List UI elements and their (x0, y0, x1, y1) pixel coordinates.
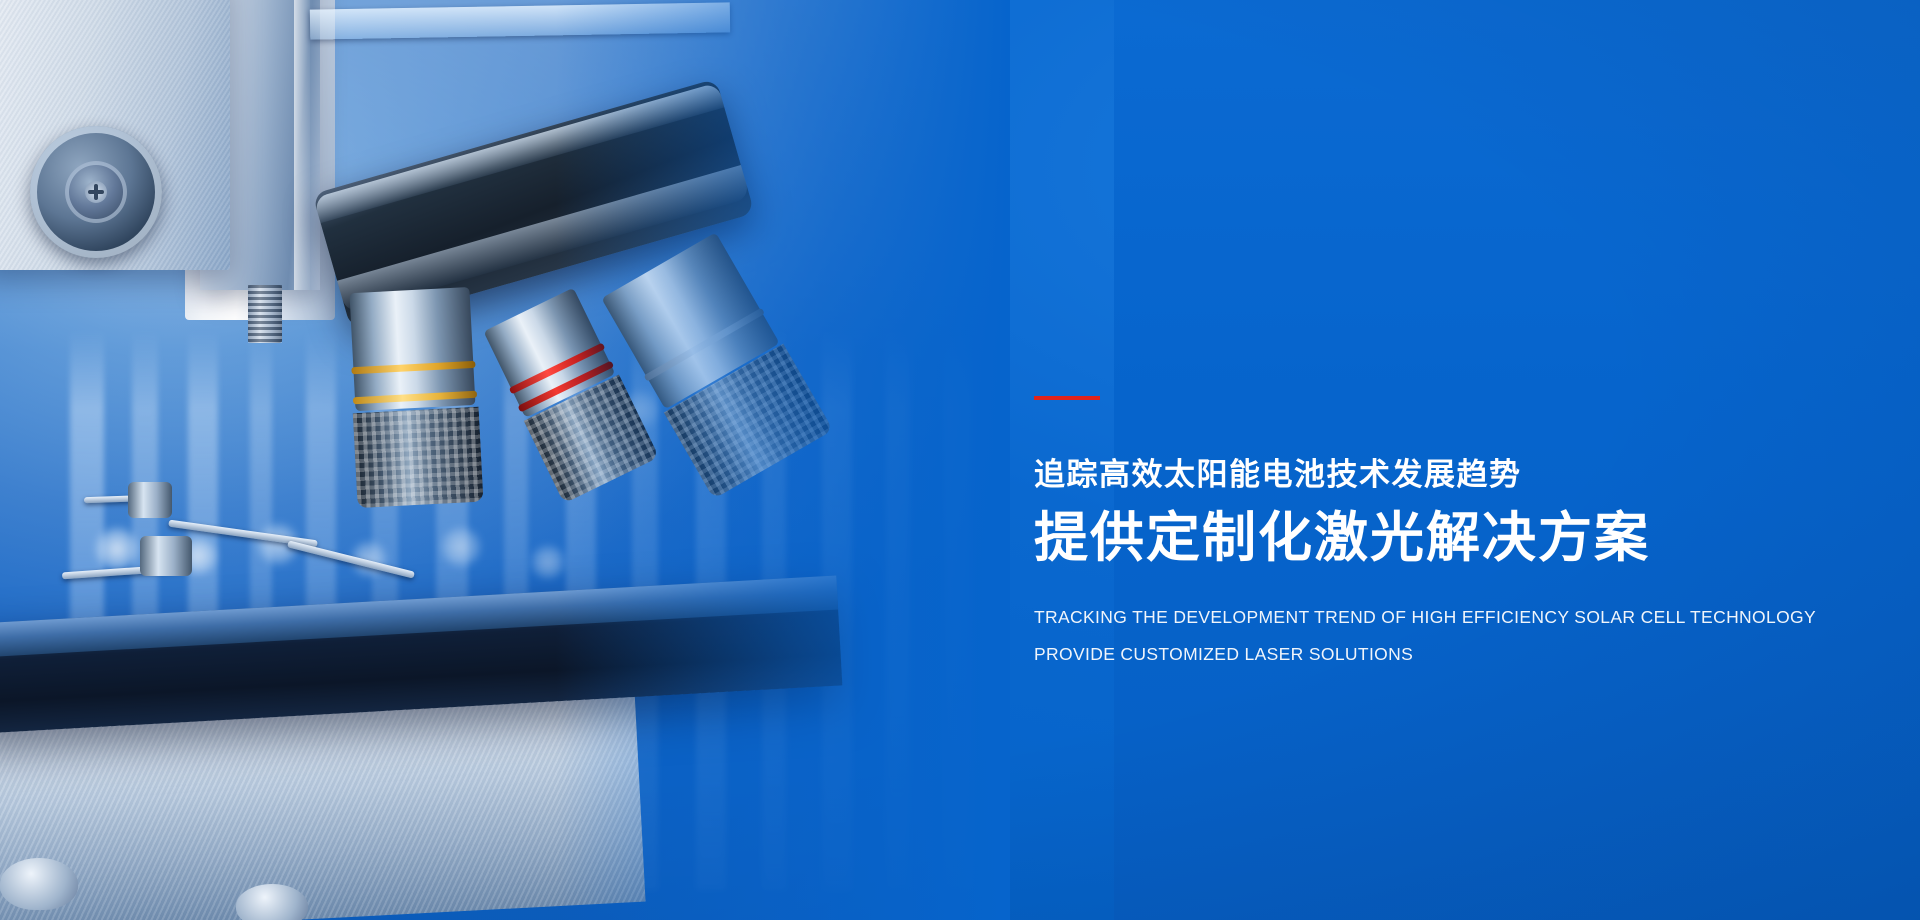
stage-knob-lower (140, 536, 192, 576)
hero-subtitle-line-1: TRACKING THE DEVELOPMENT TREND OF HIGH E… (1034, 609, 1816, 627)
microscope-focus-dial (30, 126, 162, 258)
microscope-base-foot-right (236, 884, 308, 920)
microscope-base-foot-left (0, 858, 78, 910)
microscope-neck-screw (248, 285, 282, 343)
hero-banner: 追踪高效太阳能电池技术发展趋势 提供定制化激光解决方案 TRACKING THE… (0, 0, 1920, 920)
hero-subtitle-line-2: PROVIDE CUSTOMIZED LASER SOLUTIONS (1034, 646, 1816, 664)
objective-lens-1 (349, 287, 480, 508)
hero-text-block: 追踪高效太阳能电池技术发展趋势 提供定制化激光解决方案 TRACKING THE… (1034, 396, 1816, 664)
accent-rule (1034, 396, 1100, 400)
hero-kicker: 追踪高效太阳能电池技术发展趋势 (1034, 456, 1816, 493)
stage-knob-upper (128, 482, 172, 518)
hero-headline: 提供定制化激光解决方案 (1034, 505, 1816, 573)
